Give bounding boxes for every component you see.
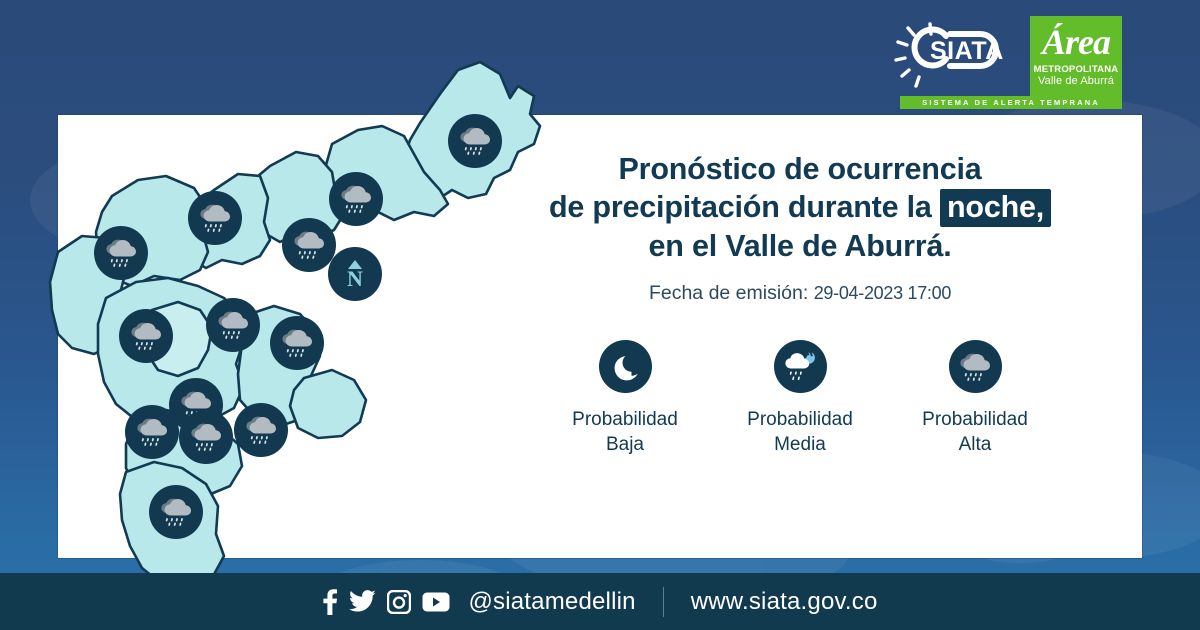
siata-tagline-bar: SISTEMA DE ALERTA TEMPRANA <box>900 96 1122 109</box>
legend-item-alta: Probabilidad Alta <box>888 340 1063 457</box>
cloud-rain-icon <box>158 497 194 527</box>
moon-icon <box>610 352 640 382</box>
map-marker-cloud-rain-12[interactable] <box>234 403 288 457</box>
siata-logo: SIATA <box>890 16 1020 94</box>
legend-icon-wrap-media <box>774 340 827 393</box>
cloud-rain-icon <box>215 310 251 340</box>
cloud-rain-icon <box>128 321 164 351</box>
legend-caption-alta: Probabilidad Alta <box>922 407 1028 457</box>
legend-caption-media: Probabilidad Media <box>747 407 853 457</box>
compass-north-label: N <box>347 270 363 288</box>
cloud-rain-icon <box>279 328 315 358</box>
legend-item-baja: Probabilidad Baja <box>538 340 713 457</box>
cloud-rain-icon <box>338 184 374 214</box>
siata-wordmark: SIATA <box>930 37 1004 65</box>
facebook-icon[interactable] <box>322 589 338 615</box>
instagram-icon[interactable] <box>387 590 411 614</box>
issue-date-value: 29-04-2023 17:00 <box>814 283 951 303</box>
issue-date: Fecha de emisión: 29-04-2023 17:00 <box>470 282 1130 305</box>
amva-logo: Área METROPOLITANA Valle de Aburrá <box>1030 16 1122 99</box>
website-url[interactable]: www.siata.gov.co <box>691 588 878 616</box>
legend-caption-media-line2: Media <box>747 432 853 457</box>
map-marker-cloud-rain-11[interactable] <box>179 410 233 464</box>
legend-caption-alta-line2: Alta <box>922 432 1028 457</box>
amva-script-area: Área <box>1042 20 1110 64</box>
legend-caption-baja: Probabilidad Baja <box>572 407 678 457</box>
map-marker-cloud-rain-6[interactable] <box>206 298 260 352</box>
siata-tagline-text: SISTEMA DE ALERTA TEMPRANA <box>922 98 1100 107</box>
compass-north-badge: N <box>328 247 382 301</box>
siata-sun-cloud-icon: SIATA <box>890 16 1020 94</box>
logo-group: SIATA Área METROPOLITANA Valle de Aburrá <box>890 16 1122 99</box>
amva-valle-de-aburra: Valle de Aburrá <box>1038 75 1114 88</box>
map-marker-cloud-rain-4[interactable] <box>282 218 336 272</box>
title-line-3: en el Valle de Aburrá. <box>470 227 1130 265</box>
legend-caption-media-line1: Probabilidad <box>747 407 853 432</box>
map-marker-cloud-rain-5[interactable] <box>94 226 148 280</box>
map-marker-cloud-rain-2[interactable] <box>329 172 383 226</box>
map-marker-cloud-rain-10[interactable] <box>125 405 179 459</box>
legend-caption-alta-line1: Probabilidad <box>922 407 1028 432</box>
legend-icon-wrap-alta <box>949 340 1002 393</box>
forecast-text-block: Pronóstico de ocurrencia de precipitació… <box>470 150 1130 457</box>
title-highlight-noche: noche, <box>940 189 1051 227</box>
cloud-rain-icon <box>243 415 279 445</box>
map-marker-cloud-rain-7[interactable] <box>119 309 173 363</box>
cloud-rain-icon <box>188 422 224 452</box>
footer-divider <box>663 587 664 617</box>
cloud-rain-icon <box>197 203 233 233</box>
amva-metropolitana: METROPOLITANA <box>1034 64 1119 75</box>
probability-legend: Probabilidad Baja <box>470 340 1130 457</box>
title-line-2: de precipitación durante la noche, <box>470 188 1130 227</box>
page-title: Pronóstico de ocurrencia de precipitació… <box>470 150 1130 265</box>
map-marker-cloud-rain-8[interactable] <box>270 316 324 370</box>
cloud-moon-rain-icon <box>783 352 817 382</box>
map-marker-cloud-rain-13[interactable] <box>149 485 203 539</box>
issue-date-label: Fecha de emisión: <box>649 282 808 304</box>
social-icons <box>322 589 450 615</box>
cloud-rain-icon <box>103 238 139 268</box>
social-handle[interactable]: @siatamedellin <box>468 588 635 616</box>
cloud-rain-icon <box>134 417 170 447</box>
infographic-canvas: N Pronóstico de ocurrencia de precipitac… <box>0 0 1200 630</box>
footer-bar: @siatamedellin www.siata.gov.co <box>0 573 1200 630</box>
cloud-rain-icon <box>291 230 327 260</box>
map-marker-cloud-rain-3[interactable] <box>188 191 242 245</box>
municipio-sabaneta <box>290 370 366 438</box>
title-line-2-text: de precipitación durante la <box>549 190 932 224</box>
cloud-rain-icon <box>957 352 993 382</box>
legend-item-media: Probabilidad Media <box>713 340 888 457</box>
title-line-1: Pronóstico de ocurrencia <box>470 150 1130 188</box>
legend-caption-baja-line1: Probabilidad <box>572 407 678 432</box>
legend-caption-baja-line2: Baja <box>572 432 678 457</box>
legend-icon-wrap-baja <box>599 340 652 393</box>
twitter-icon[interactable] <box>349 590 376 613</box>
youtube-icon[interactable] <box>422 592 450 612</box>
